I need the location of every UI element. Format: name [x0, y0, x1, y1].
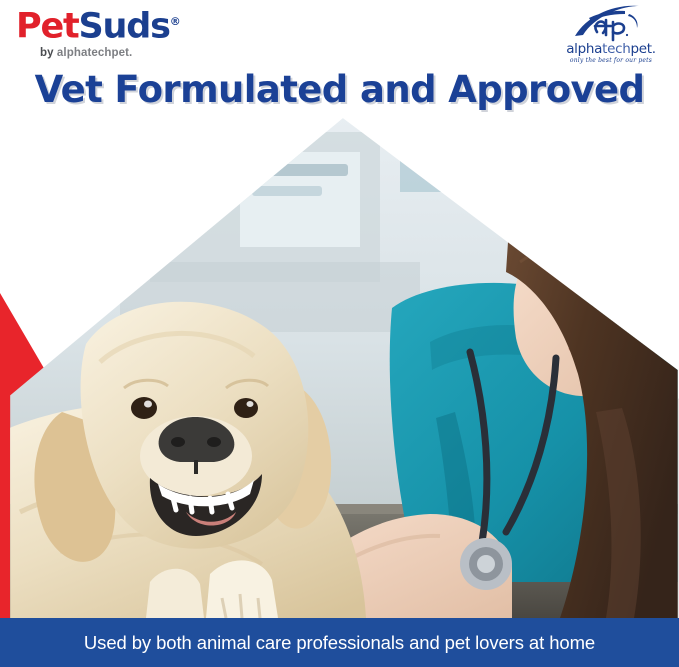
marketing-banner: PetSuds® by alphatechpet. alphatechpet.	[0, 0, 679, 667]
registered-trademark-icon: ®	[170, 15, 181, 28]
byline-company: alphatechpet.	[57, 47, 132, 59]
corp-name-tech: tech	[602, 41, 630, 57]
corporate-wordmark: alphatechpet.	[555, 42, 667, 56]
atp-swoosh-icon	[567, 2, 655, 42]
corp-name-pet: pet.	[631, 41, 656, 57]
hero-photo-frame	[0, 112, 679, 618]
corporate-tagline: only the best for our pets	[555, 56, 667, 65]
hero-photo-veterinarian-with-dog	[0, 112, 679, 618]
alphatechpet-corporate-logo: alphatechpet. only the best for our pets	[555, 2, 667, 65]
corp-name-alpha: alpha	[566, 41, 602, 57]
petsuds-byline: by alphatechpet.	[40, 47, 246, 59]
hero-photo-clip	[0, 112, 679, 618]
petsuds-brand-logo: PetSuds® by alphatechpet.	[16, 4, 246, 60]
footer-banner-text: Used by both animal care professionals a…	[84, 632, 595, 654]
byline-prefix: by	[40, 47, 57, 59]
brand-name-suds: Suds	[79, 7, 170, 47]
page-headline: Vet Formulated and Approved	[0, 68, 679, 111]
brand-name-pet: Pet	[16, 7, 79, 47]
petsuds-wordmark: PetSuds®	[16, 4, 246, 45]
footer-banner: Used by both animal care professionals a…	[0, 618, 679, 667]
